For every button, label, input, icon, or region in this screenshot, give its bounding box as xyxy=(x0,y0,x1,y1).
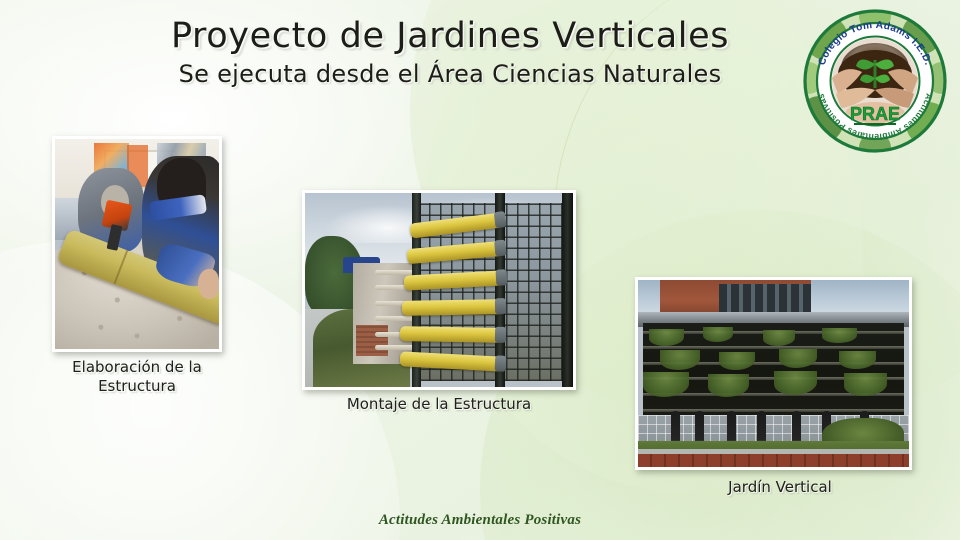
building-windows xyxy=(719,284,811,314)
brick-wall-foreground xyxy=(638,454,909,467)
logo-center-text: PRAE xyxy=(850,104,900,124)
student-right-hand xyxy=(198,269,219,298)
photo-caption: Elaboración de la Estructura xyxy=(7,358,267,396)
photo-jardin-vertical xyxy=(635,277,912,470)
footer-slogan: Actitudes Ambientales Positivas xyxy=(0,512,960,529)
prae-seal-svg: PRAE Colegio Tom Adams I.E.D. Actitudes … xyxy=(802,8,948,154)
photo-frame xyxy=(302,190,576,390)
photo-frame xyxy=(52,136,222,352)
photo-montaje-estructura xyxy=(302,190,576,390)
photo-frame xyxy=(635,277,912,470)
page-subtitle: Se ejecuta desde el Área Ciencias Natura… xyxy=(120,60,780,88)
page-title: Proyecto de Jardines Verticales xyxy=(120,18,780,56)
title-block: Proyecto de Jardines Verticales Se ejecu… xyxy=(120,18,780,88)
bamboo-tube-rows xyxy=(407,193,573,387)
slide-canvas: Proyecto de Jardines Verticales Se ejecu… xyxy=(0,0,960,540)
prae-seal-logo: PRAE Colegio Tom Adams I.E.D. Actitudes … xyxy=(802,8,948,154)
photo-caption: Montaje de la Estructura xyxy=(279,395,599,414)
photo-caption: Jardín Vertical xyxy=(620,478,940,497)
photo-elaboracion-estructura xyxy=(52,136,222,352)
